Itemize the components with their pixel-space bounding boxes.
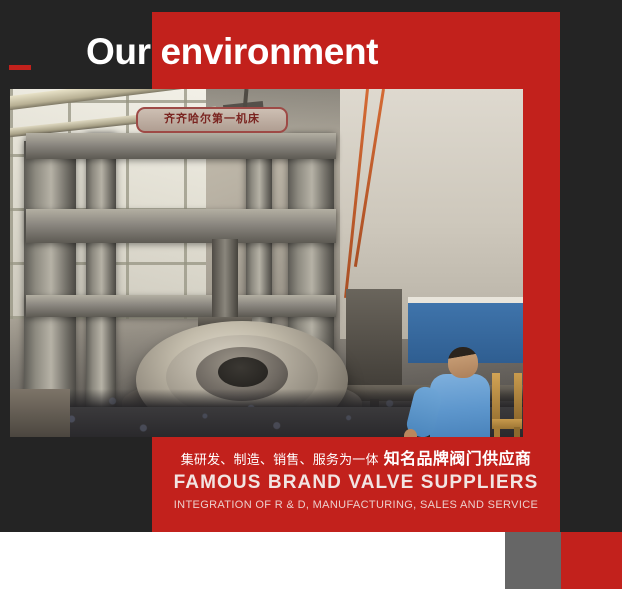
caption-english-sub: INTEGRATION OF R & D, MANUFACTURING, SAL… bbox=[152, 495, 560, 515]
photo-machine-nameplate: 齐齐哈尔第一机床 bbox=[136, 107, 288, 133]
photo-machine-crossbeam-top bbox=[26, 133, 336, 159]
caption-block: 集研发、制造、销售、服务为一体知名品牌阀门供应商 FAMOUS BRAND VA… bbox=[152, 450, 560, 515]
decorative-block-red bbox=[561, 532, 622, 589]
photo-canvas: 齐齐哈尔第一机床 bbox=[10, 89, 523, 437]
photo-chair-leg-right bbox=[514, 427, 520, 437]
photo-foreground-crate bbox=[10, 389, 70, 437]
caption-english-main: FAMOUS BRAND VALVE SUPPLIERS bbox=[152, 471, 560, 495]
photo-machine-crossbeam-lower bbox=[26, 295, 336, 317]
page-root: Our environment 齐齐哈尔第一机床 bbox=[0, 0, 622, 589]
photo-rear-cabinet bbox=[346, 289, 402, 385]
environment-photo: 齐齐哈尔第一机床 bbox=[10, 89, 523, 437]
photo-worker-hand bbox=[404, 429, 417, 437]
photo-machine-crossbeam-middle bbox=[26, 209, 336, 243]
red-dash-accent bbox=[9, 65, 31, 70]
photo-chair-leg-left bbox=[494, 427, 500, 437]
decorative-block-gray bbox=[505, 532, 561, 589]
page-title: Our environment bbox=[86, 27, 546, 77]
caption-chinese-line: 集研发、制造、销售、服务为一体知名品牌阀门供应商 bbox=[152, 450, 560, 470]
photo-chair-back-right-post bbox=[514, 373, 522, 421]
photo-chair-back-left-post bbox=[492, 373, 500, 421]
photo-workpiece-bore bbox=[218, 357, 268, 387]
caption-chinese-small: 集研发、制造、销售、服务为一体 bbox=[181, 452, 379, 467]
photo-worker-head bbox=[448, 347, 478, 378]
caption-chinese-large: 知名品牌阀门供应商 bbox=[384, 451, 532, 468]
